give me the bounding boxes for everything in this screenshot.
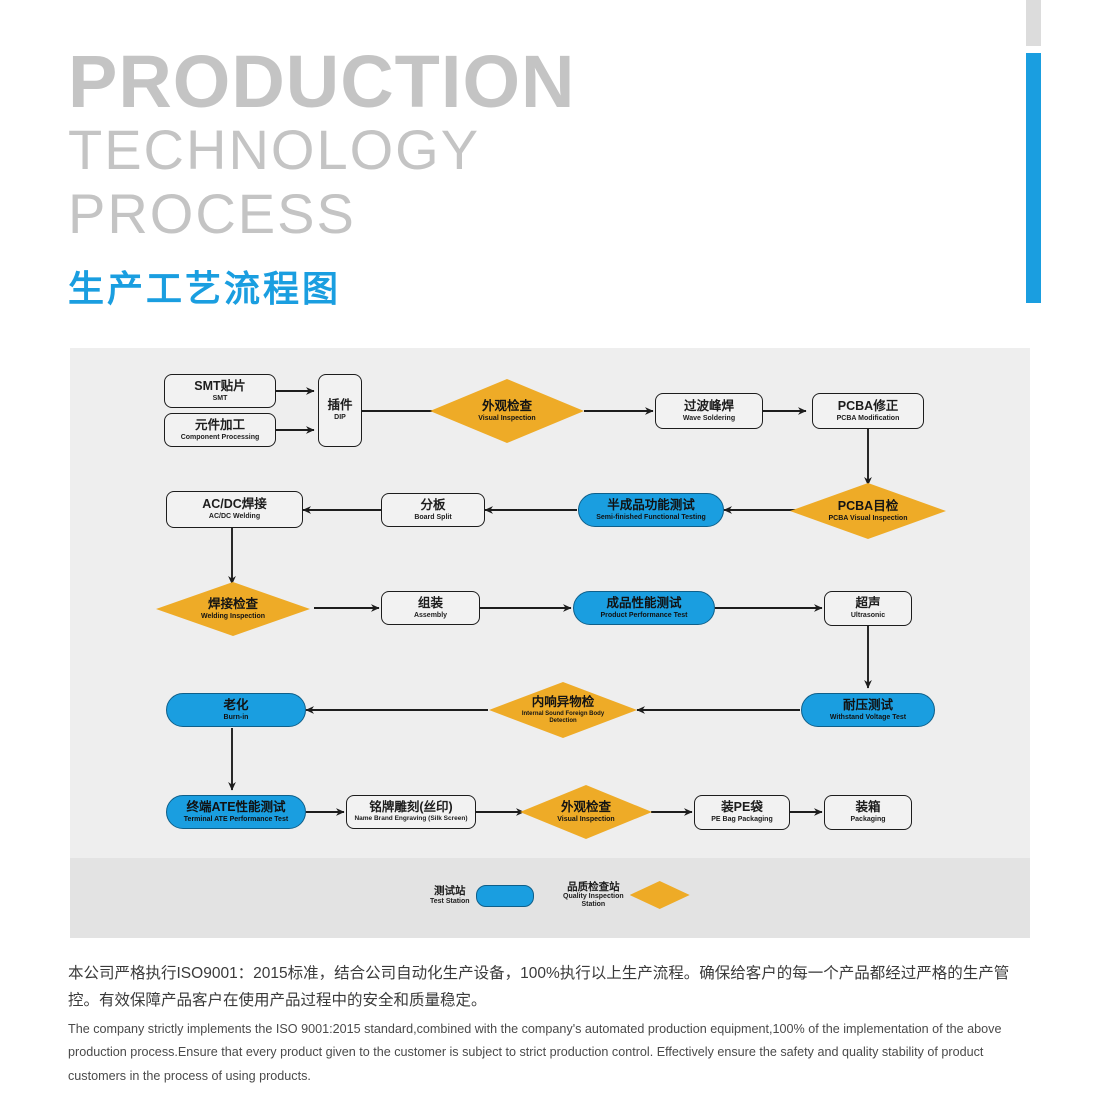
- node-packaging[interactable]: 装箱 Packaging: [824, 795, 912, 830]
- node-wave-soldering-en: Wave Soldering: [683, 415, 735, 422]
- node-visual-inspection-2-en: Visual Inspection: [557, 816, 614, 823]
- node-pe-bag-packaging-en: PE Bag Packaging: [711, 816, 772, 823]
- node-welding-inspection-en: Welding Inspection: [201, 613, 265, 620]
- node-foreign-body-en: Internal Sound Foreign Body Detection: [515, 711, 611, 724]
- node-component-processing-cn: 元件加工: [195, 419, 245, 432]
- node-terminal-ate-cn: 终端ATE性能测试: [186, 801, 285, 814]
- legend-diamond-swatch: [630, 881, 690, 909]
- node-assembly-cn: 组装: [418, 597, 443, 610]
- footer-paragraph-english: The company strictly implements the ISO …: [68, 1018, 1036, 1088]
- footer-paragraph-chinese: 本公司严格执行ISO9001：2015标准，结合公司自动化生产设备，100%执行…: [68, 960, 1036, 1014]
- accent-bar-gray: [1026, 0, 1041, 46]
- node-name-brand-engraving-cn: 铭牌雕刻(丝印): [369, 801, 452, 814]
- node-visual-inspection-2-cn: 外观检查: [561, 801, 611, 814]
- node-withstand-voltage-test[interactable]: 耐压测试 Withstand Voltage Test: [801, 693, 935, 727]
- node-board-split[interactable]: 分板 Board Split: [381, 493, 485, 527]
- node-semi-finished-functional-testing-cn: 半成品功能测试: [607, 499, 695, 512]
- legend-panel: [70, 858, 1030, 938]
- legend-test-station-en: Test Station: [430, 898, 470, 906]
- node-foreign-body-cn: 内响异物检: [532, 696, 595, 709]
- node-withstand-voltage-test-cn: 耐压测试: [843, 699, 893, 712]
- node-withstand-voltage-test-en: Withstand Voltage Test: [830, 714, 906, 721]
- node-pcba-modification-cn: PCBA修正: [838, 400, 898, 413]
- node-burn-in[interactable]: 老化 Burn-in: [166, 693, 306, 727]
- node-assembly[interactable]: 组装 Assembly: [381, 591, 480, 625]
- node-pe-bag-packaging-cn: 装PE袋: [721, 801, 763, 814]
- node-dip[interactable]: 插件 DIP: [318, 374, 362, 447]
- node-acdc-welding-cn: AC/DC焊接: [202, 498, 267, 511]
- node-visual-inspection-1-en: Visual Inspection: [478, 415, 535, 422]
- node-product-performance-test-en: Product Performance Test: [600, 612, 687, 619]
- node-burn-in-cn: 老化: [223, 699, 248, 712]
- node-acdc-welding[interactable]: AC/DC焊接 AC/DC Welding: [166, 491, 303, 528]
- title-line-production: PRODUCTION: [68, 46, 828, 118]
- legend-item-test-station: 测试站 Test Station: [430, 885, 534, 907]
- node-smt-en: SMT: [213, 395, 228, 402]
- node-smt[interactable]: SMT贴片 SMT: [164, 374, 276, 408]
- node-semi-finished-functional-testing[interactable]: 半成品功能测试 Semi-finished Functional Testing: [578, 493, 724, 527]
- node-wave-soldering[interactable]: 过波峰焊 Wave Soldering: [655, 393, 763, 429]
- legend-quality-station-en1: Quality Inspection: [563, 893, 624, 901]
- node-board-split-en: Board Split: [414, 514, 451, 521]
- title-line-process: PROCESS: [68, 182, 828, 246]
- node-pcba-modification-en: PCBA Modification: [837, 415, 900, 422]
- legend-test-station-cn: 测试站: [430, 886, 470, 898]
- page-title: PRODUCTION TECHNOLOGY PROCESS 生产工艺流程图: [68, 46, 828, 312]
- legend-quality-station-cn: 品质检查站: [563, 882, 624, 894]
- node-ultrasonic-cn: 超声: [855, 597, 880, 610]
- legend-pill-swatch: [476, 885, 534, 907]
- node-component-processing-en: Component Processing: [181, 434, 260, 441]
- node-dip-cn: 插件: [327, 399, 352, 412]
- node-board-split-cn: 分板: [420, 499, 445, 512]
- node-packaging-cn: 装箱: [855, 801, 880, 814]
- node-welding-inspection-cn: 焊接检查: [208, 598, 258, 611]
- title-chinese: 生产工艺流程图: [68, 260, 828, 312]
- node-terminal-ate-performance-test[interactable]: 终端ATE性能测试 Terminal ATE Performance Test: [166, 795, 306, 829]
- node-smt-cn: SMT贴片: [194, 380, 245, 393]
- node-component-processing[interactable]: 元件加工 Component Processing: [164, 413, 276, 447]
- node-ultrasonic-en: Ultrasonic: [851, 612, 885, 619]
- node-burn-in-en: Burn-in: [224, 714, 249, 721]
- node-acdc-welding-en: AC/DC Welding: [209, 513, 260, 520]
- node-dip-en: DIP: [334, 414, 346, 421]
- accent-bar-blue: [1026, 53, 1041, 303]
- node-pcba-visual-inspection-en: PCBA Visual Inspection: [829, 515, 908, 522]
- node-packaging-en: Packaging: [850, 816, 885, 823]
- node-pe-bag-packaging[interactable]: 装PE袋 PE Bag Packaging: [694, 795, 790, 830]
- title-line-technology: TECHNOLOGY: [68, 118, 828, 182]
- node-pcba-visual-inspection-cn: PCBA目检: [838, 500, 898, 513]
- node-ultrasonic[interactable]: 超声 Ultrasonic: [824, 591, 912, 626]
- legend-test-station-label: 测试站 Test Station: [430, 886, 470, 905]
- legend-quality-station-label: 品质检查站 Quality Inspection Station: [563, 882, 624, 909]
- node-pcba-modification[interactable]: PCBA修正 PCBA Modification: [812, 393, 924, 429]
- node-name-brand-engraving[interactable]: 铭牌雕刻(丝印) Name Brand Engraving (Silk Scre…: [346, 795, 476, 829]
- legend-item-quality-inspection-station: 品质检查站 Quality Inspection Station: [563, 881, 690, 909]
- node-terminal-ate-en: Terminal ATE Performance Test: [184, 816, 288, 823]
- node-wave-soldering-cn: 过波峰焊: [684, 400, 734, 413]
- node-product-performance-test-cn: 成品性能测试: [606, 597, 681, 610]
- node-product-performance-test[interactable]: 成品性能测试 Product Performance Test: [573, 591, 715, 625]
- node-visual-inspection-1-cn: 外观检查: [482, 400, 532, 413]
- node-name-brand-engraving-en: Name Brand Engraving (Silk Screen): [354, 816, 467, 823]
- node-semi-finished-functional-testing-en: Semi-finished Functional Testing: [596, 514, 706, 521]
- node-assembly-en: Assembly: [414, 612, 447, 619]
- legend-quality-station-en2: Station: [563, 901, 624, 909]
